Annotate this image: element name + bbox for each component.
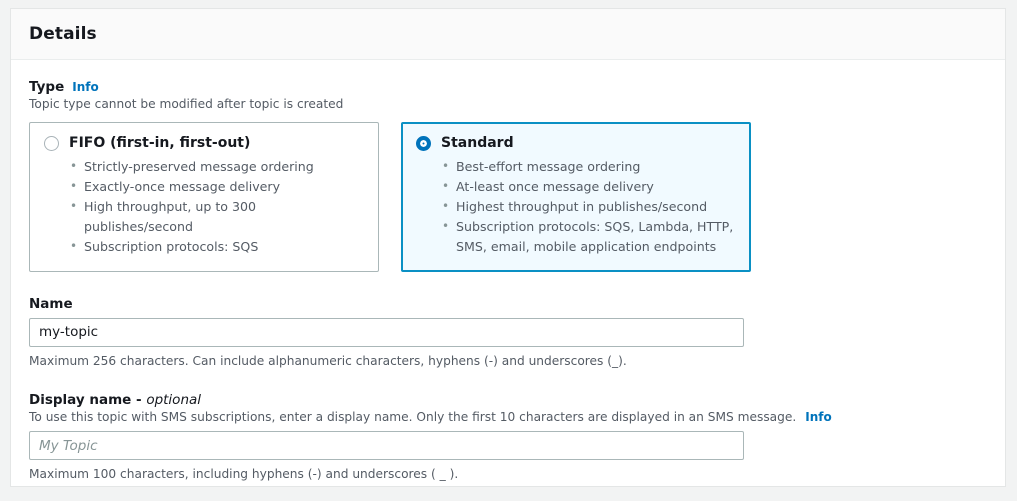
list-item: Strictly-preserved message ordering [84,157,364,177]
fifo-option-title: FIFO (first-in, first-out) [69,135,250,151]
type-label-row: Type Info [29,79,987,95]
name-hint: Maximum 256 characters. Can include alph… [29,354,987,368]
display-name-field-group: Display name - optional To use this topi… [29,392,987,481]
list-item: At-least once message delivery [456,177,736,197]
panel-header: Details [11,9,1005,60]
fifo-option-bullets: Strictly-preserved message ordering Exac… [44,157,364,256]
topic-name-input[interactable] [29,318,744,347]
display-name-label-text: Display name - [29,392,146,408]
type-info-link[interactable]: Info [72,80,98,94]
type-option-standard[interactable]: Standard Best-effort message ordering At… [401,122,751,271]
list-item: Subscription protocols: SQS, Lambda, HTT… [456,217,736,257]
list-item: Subscription protocols: SQS [84,237,364,257]
standard-option-header: Standard [416,135,736,151]
name-label-row: Name [29,296,987,312]
display-name-label: Display name - optional [29,392,201,408]
radio-checked-icon[interactable] [416,136,431,151]
display-name-hint: Maximum 100 characters, including hyphen… [29,467,987,481]
details-panel: Details Type Info Topic type cannot be m… [10,8,1006,487]
type-description: Topic type cannot be modified after topi… [29,96,987,112]
list-item: Best-effort message ordering [456,157,736,177]
type-field-group: Type Info Topic type cannot be modified … [29,79,987,272]
name-label: Name [29,296,73,312]
standard-option-bullets: Best-effort message ordering At-least on… [416,157,736,256]
display-name-description-row: To use this topic with SMS subscriptions… [29,408,987,425]
type-option-fifo[interactable]: FIFO (first-in, first-out) Strictly-pres… [29,122,379,271]
list-item: Exactly-once message delivery [84,177,364,197]
list-item: High throughput, up to 300 publishes/sec… [84,197,364,237]
display-name-description: To use this topic with SMS subscriptions… [29,409,796,425]
display-name-label-row: Display name - optional [29,392,987,408]
display-name-optional-text: optional [146,392,201,408]
type-radio-group: FIFO (first-in, first-out) Strictly-pres… [29,122,987,271]
name-field-group: Name Maximum 256 characters. Can include… [29,296,987,368]
display-name-info-link[interactable]: Info [805,410,831,424]
standard-option-title: Standard [441,135,514,151]
page-title: Details [29,24,97,44]
type-label: Type [29,79,64,95]
fifo-option-header: FIFO (first-in, first-out) [44,135,364,151]
page-background: Details Type Info Topic type cannot be m… [0,0,1017,501]
list-item: Highest throughput in publishes/second [456,197,736,217]
display-name-input[interactable] [29,431,744,460]
radio-unchecked-icon[interactable] [44,136,59,151]
panel-body: Type Info Topic type cannot be modified … [11,60,1005,481]
